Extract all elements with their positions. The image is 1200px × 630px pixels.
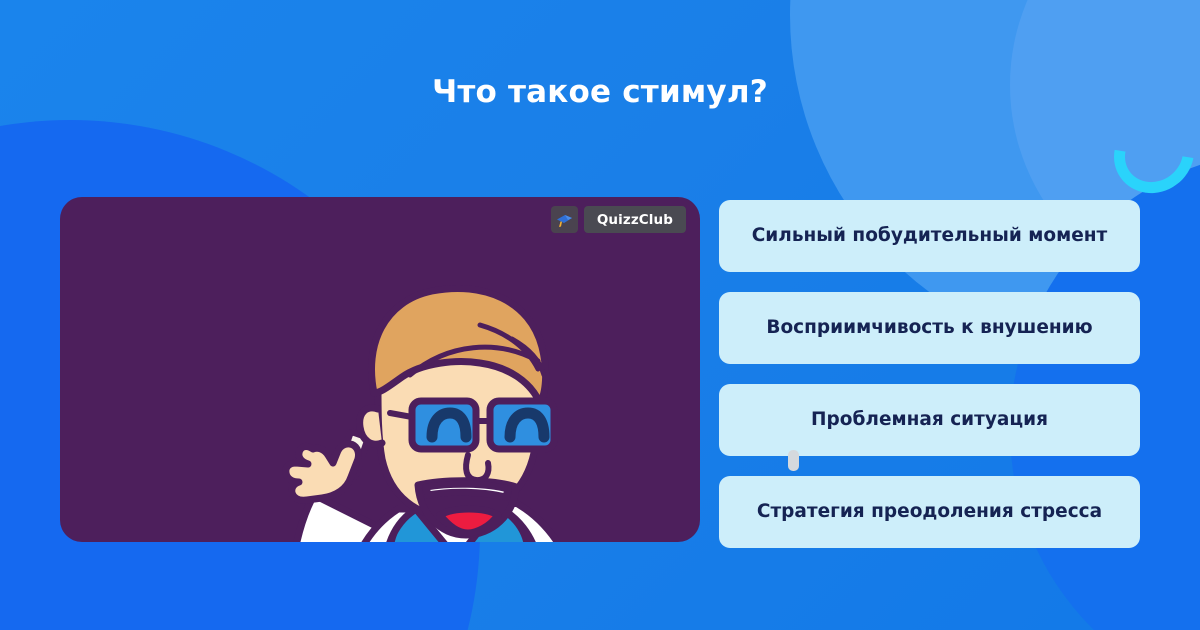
brand-badge[interactable]: QuizzClub bbox=[551, 206, 686, 233]
answer-option-4[interactable]: Стратегия преодоления стресса bbox=[719, 476, 1140, 548]
student-illustration bbox=[60, 197, 700, 542]
illustration-card: QuizzClub bbox=[60, 197, 700, 542]
graduation-cap-icon bbox=[551, 206, 578, 233]
quiz-card-page: Что такое стимул? bbox=[0, 0, 1200, 630]
brand-name-label: QuizzClub bbox=[584, 206, 686, 233]
page-title: Что такое стимул? bbox=[0, 74, 1200, 110]
answer-option-1[interactable]: Сильный побудительный момент bbox=[719, 200, 1140, 272]
answer-option-2[interactable]: Восприимчивость к внушению bbox=[719, 292, 1140, 364]
scroll-indicator[interactable] bbox=[788, 450, 799, 471]
answer-option-3[interactable]: Проблемная ситуация bbox=[719, 384, 1140, 456]
answer-options-list: Сильный побудительный момент Восприимчив… bbox=[719, 200, 1140, 548]
